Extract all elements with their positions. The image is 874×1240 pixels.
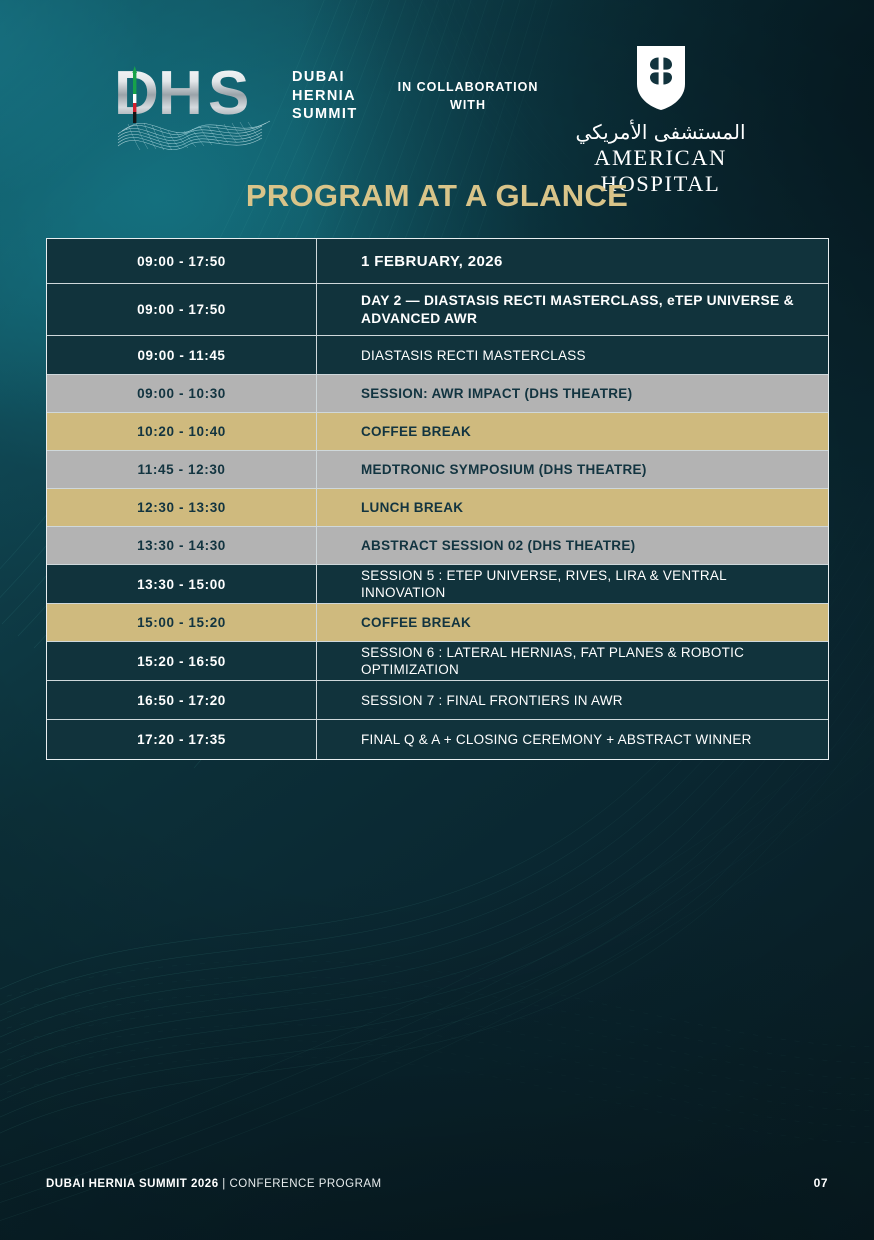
dhs-wordmark-line-1: DUBAI bbox=[292, 68, 358, 87]
schedule-row-time: 10:20 - 10:40 bbox=[47, 413, 317, 450]
schedule-row-description: COFFEE BREAK bbox=[317, 604, 828, 641]
schedule-row: 12:30 - 13:30LUNCH BREAK bbox=[47, 489, 828, 527]
dhs-wordmark-line-3: SUMMIT bbox=[292, 105, 358, 124]
schedule-row-description: 1 FEBRUARY, 2026 bbox=[317, 239, 828, 283]
schedule-row-description: SESSION 5 : ETEP UNIVERSE, RIVES, LIRA &… bbox=[317, 565, 828, 603]
schedule-row: 16:50 - 17:20SESSION 7 : FINAL FRONTIERS… bbox=[47, 681, 828, 720]
schedule-row: 13:30 - 15:00SESSION 5 : ETEP UNIVERSE, … bbox=[47, 565, 828, 604]
schedule-row-time: 13:30 - 14:30 bbox=[47, 527, 317, 564]
footer-title: DUBAI HERNIA SUMMIT 2026 bbox=[46, 1178, 219, 1190]
page-header: D H S bbox=[0, 0, 874, 175]
american-hospital-shield-icon bbox=[634, 44, 688, 112]
footer-subtitle: CONFERENCE PROGRAM bbox=[230, 1178, 382, 1190]
page-footer: DUBAI HERNIA SUMMIT 2026 | CONFERENCE PR… bbox=[46, 1176, 828, 1190]
schedule-row-description: SESSION: AWR IMPACT (DHS THEATRE) bbox=[317, 375, 828, 412]
american-hospital-logo: المستشفى الأمريكي AMERICAN HOSPITAL bbox=[548, 44, 773, 197]
schedule-row: 09:00 - 17:50DAY 2 — DIASTASIS RECTI MAS… bbox=[47, 284, 828, 336]
schedule-row: 11:45 - 12:30MEDTRONIC SYMPOSIUM (DHS TH… bbox=[47, 451, 828, 489]
collaboration-text: IN COLLABORATION WITH bbox=[383, 78, 553, 114]
schedule-row: 10:20 - 10:40COFFEE BREAK bbox=[47, 413, 828, 451]
schedule-row-time: 12:30 - 13:30 bbox=[47, 489, 317, 526]
schedule-row-time: 13:30 - 15:00 bbox=[47, 565, 317, 603]
schedule-row-time: 17:20 - 17:35 bbox=[47, 720, 317, 759]
schedule-row-description: SESSION 6 : LATERAL HERNIAS, FAT PLANES … bbox=[317, 642, 828, 680]
schedule-row: 09:00 - 10:30SESSION: AWR IMPACT (DHS TH… bbox=[47, 375, 828, 413]
schedule-row: 09:00 - 11:45DIASTASIS RECTI MASTERCLASS bbox=[47, 336, 828, 375]
schedule-row-description: SESSION 7 : FINAL FRONTIERS IN AWR bbox=[317, 681, 828, 719]
schedule-row-time: 15:20 - 16:50 bbox=[47, 642, 317, 680]
schedule-row: 09:00 - 17:501 FEBRUARY, 2026 bbox=[47, 239, 828, 284]
schedule-row-description: FINAL Q & A + CLOSING CEREMONY + ABSTRAC… bbox=[317, 720, 828, 759]
program-schedule-table: 09:00 - 17:501 FEBRUARY, 202609:00 - 17:… bbox=[46, 238, 829, 760]
schedule-row: 17:20 - 17:35FINAL Q & A + CLOSING CEREM… bbox=[47, 720, 828, 759]
dhs-wordmark: DUBAI HERNIA SUMMIT bbox=[292, 68, 358, 124]
schedule-row-time: 09:00 - 17:50 bbox=[47, 284, 317, 335]
schedule-row-time: 09:00 - 11:45 bbox=[47, 336, 317, 374]
dhs-logo-icon: D H S bbox=[112, 52, 280, 156]
footer-caption: DUBAI HERNIA SUMMIT 2026 | CONFERENCE PR… bbox=[46, 1178, 382, 1190]
schedule-row-time: 11:45 - 12:30 bbox=[47, 451, 317, 488]
schedule-row-description: LUNCH BREAK bbox=[317, 489, 828, 526]
schedule-row-description: ABSTRACT SESSION 02 (DHS THEATRE) bbox=[317, 527, 828, 564]
dhs-monogram-icon: D H S bbox=[112, 52, 280, 156]
schedule-row-time: 09:00 - 17:50 bbox=[47, 239, 317, 283]
schedule-row-description: DAY 2 — DIASTASIS RECTI MASTERCLASS, eTE… bbox=[317, 284, 828, 335]
page-title: PROGRAM AT A GLANCE bbox=[0, 178, 874, 214]
schedule-row-time: 16:50 - 17:20 bbox=[47, 681, 317, 719]
schedule-row-description: DIASTASIS RECTI MASTERCLASS bbox=[317, 336, 828, 374]
footer-separator: | bbox=[219, 1178, 230, 1190]
schedule-row: 15:20 - 16:50SESSION 6 : LATERAL HERNIAS… bbox=[47, 642, 828, 681]
schedule-row-time: 09:00 - 10:30 bbox=[47, 375, 317, 412]
schedule-row-time: 15:00 - 15:20 bbox=[47, 604, 317, 641]
footer-page-number: 07 bbox=[814, 1176, 828, 1190]
svg-text:S: S bbox=[208, 59, 248, 128]
svg-text:H: H bbox=[158, 59, 202, 128]
schedule-row-description: COFFEE BREAK bbox=[317, 413, 828, 450]
schedule-row: 15:00 - 15:20COFFEE BREAK bbox=[47, 604, 828, 642]
dhs-wordmark-line-2: HERNIA bbox=[292, 87, 358, 106]
schedule-row-description: MEDTRONIC SYMPOSIUM (DHS THEATRE) bbox=[317, 451, 828, 488]
schedule-row: 13:30 - 14:30ABSTRACT SESSION 02 (DHS TH… bbox=[47, 527, 828, 565]
american-hospital-arabic-name: المستشفى الأمريكي bbox=[548, 120, 773, 144]
